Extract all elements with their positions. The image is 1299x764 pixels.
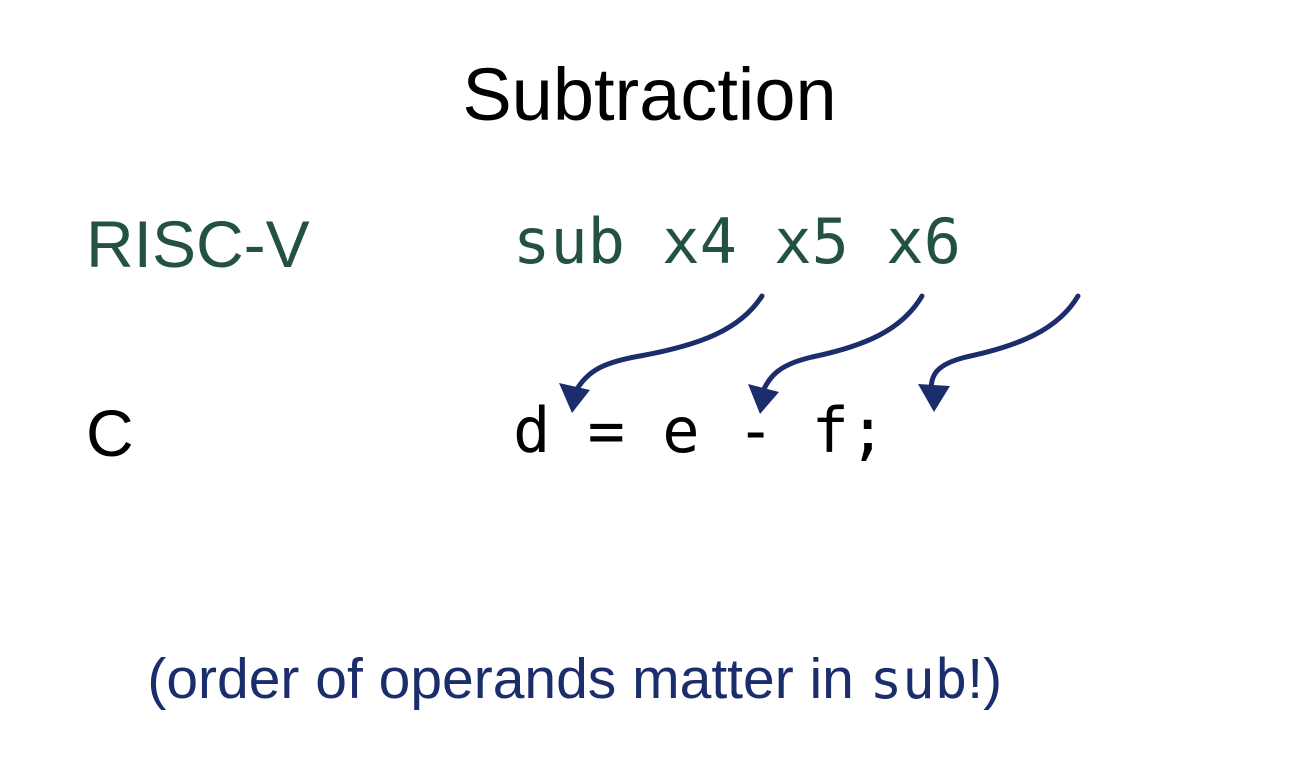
footnote-prefix: (order of operands matter in — [147, 647, 869, 711]
slide-canvas: Subtraction RISC-V sub x4 x5 x6 C d = e … — [0, 0, 1299, 764]
row-c: C d = e - f; — [0, 400, 1299, 490]
row-risc-v: RISC-V sub x4 x5 x6 — [0, 211, 1299, 301]
row-label-c: C — [86, 400, 134, 466]
arrow-x5-to-e-curve — [760, 296, 922, 399]
arrow-x6-to-f-curve — [931, 296, 1078, 397]
page-title: Subtraction — [0, 58, 1299, 132]
footnote-mnemonic: sub — [870, 648, 968, 711]
arrow-x4-to-d-curve — [572, 296, 762, 398]
footnote-suffix: !) — [967, 647, 1002, 711]
code-c-statement: d = e - f; — [513, 400, 886, 462]
arrow-x6-to-f — [918, 296, 1078, 412]
row-label-risc-v: RISC-V — [86, 211, 310, 277]
footnote-note: (order of operands matter in sub!) — [84, 594, 1002, 764]
code-risc-v-instruction: sub x4 x5 x6 — [513, 211, 961, 273]
